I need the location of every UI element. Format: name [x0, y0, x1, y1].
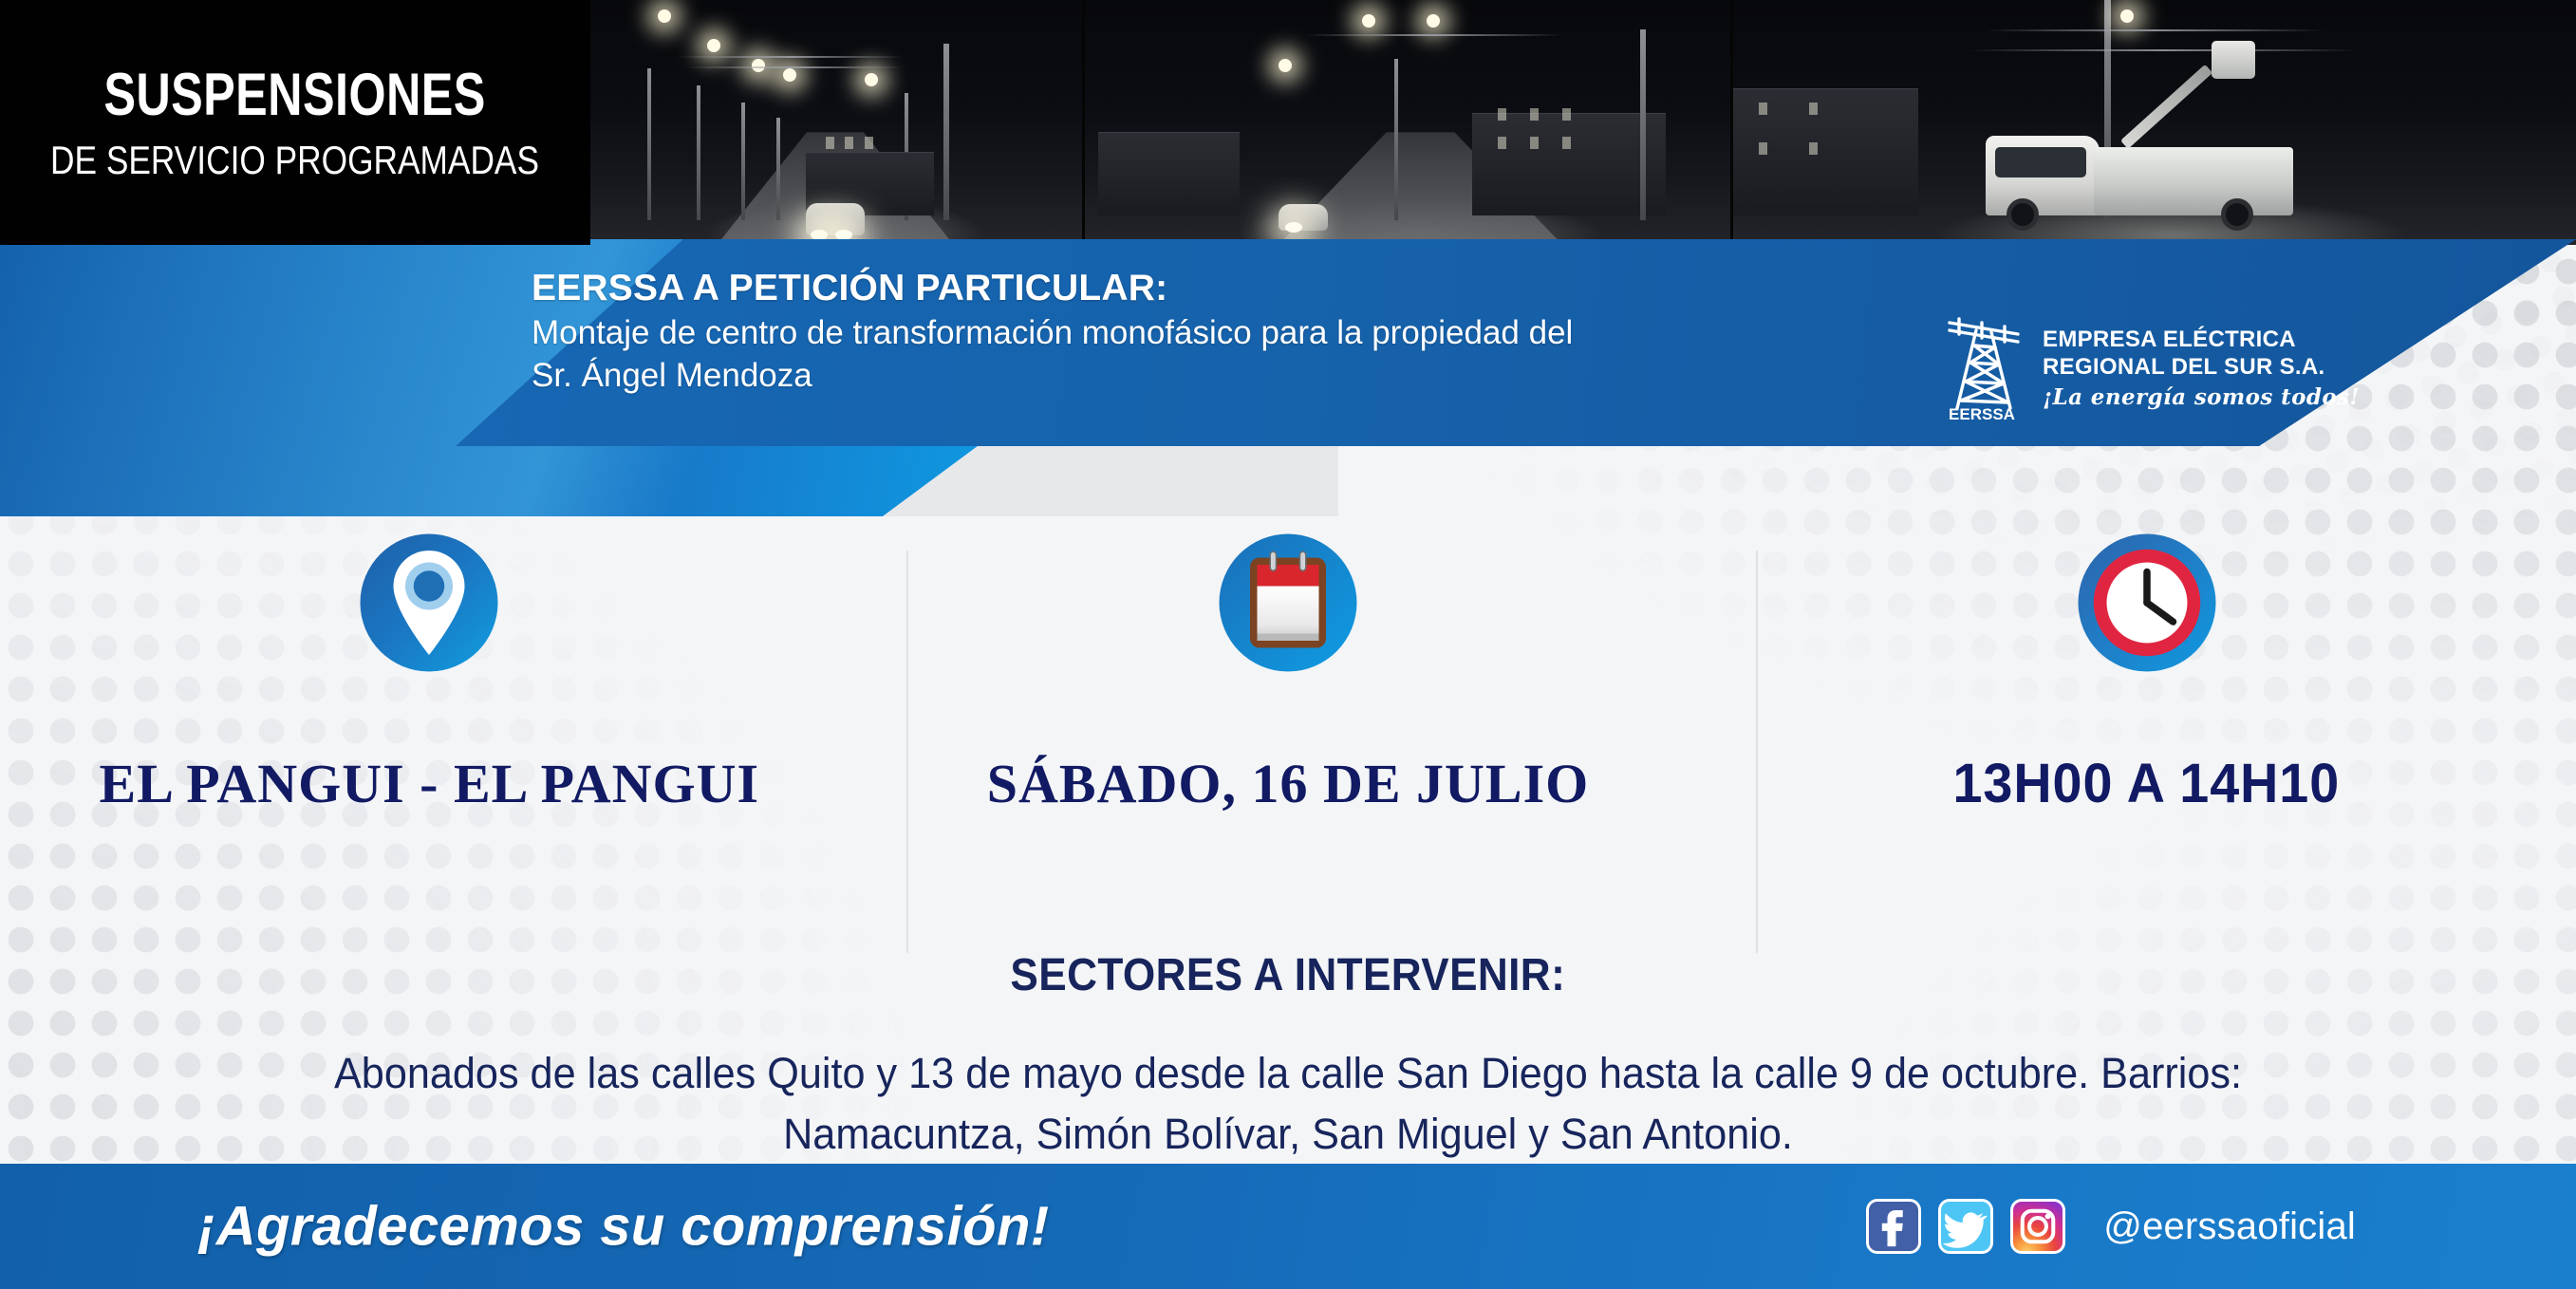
photo-night-street-car	[588, 0, 1082, 245]
social-handle: @eerssaoficial	[2103, 1205, 2356, 1248]
twitter-icon[interactable]	[1938, 1199, 1993, 1254]
logo-slogan: ¡La energía somos todos!	[2043, 384, 2360, 410]
poster-title-secondary: DE SERVICIO PROGRAMADAS	[51, 140, 540, 180]
eerssa-logo: EERSSA EMPRESA ELÉCTRICA REGIONAL DEL SU…	[1936, 313, 2360, 423]
footer-social-links: @eerssaoficial	[1866, 1199, 2356, 1254]
date-label: SÁBADO, 16 DE JULIO	[987, 756, 1590, 813]
info-column-location: EL PANGUI - EL PANGUI	[0, 532, 859, 930]
banner-text-block: EERSSA A PETICIÓN PARTICULAR: Montaje de…	[532, 266, 1573, 398]
location-label: EL PANGUI - EL PANGUI	[100, 756, 760, 813]
poster-footer: ¡Agradecemos su comprensión! @eerssaofic…	[0, 1164, 2576, 1289]
banner-description-line-1: Montaje de centro de transformación mono…	[532, 311, 1573, 355]
facebook-icon[interactable]	[1866, 1199, 1921, 1254]
info-column-time: 13H00 A 14H10	[1717, 532, 2576, 930]
utility-truck	[1986, 111, 2299, 231]
time-label: 13H00 A 14H10	[1953, 756, 2341, 813]
info-column-date: SÁBADO, 16 DE JULIO	[859, 532, 1718, 930]
header-photo-strip: SUSPENSIONES DE SERVICIO PROGRAMADAS	[0, 0, 2576, 245]
banner-description-line-2: Sr. Ángel Mendoza	[532, 354, 1573, 398]
banner-heading: EERSSA A PETICIÓN PARTICULAR:	[532, 266, 1573, 311]
sectors-heading: SECTORES A INTERVENIR:	[1011, 949, 1566, 1001]
logo-company-line-1: EMPRESA ELÉCTRICA	[2043, 327, 2360, 353]
footer-thanks-message: ¡Agradecemos su comprensión!	[197, 1195, 1050, 1259]
logo-company-line-2: REGIONAL DEL SUR S.A.	[2043, 354, 2360, 381]
info-columns: EL PANGUI - EL PANGUI	[0, 532, 2576, 930]
poster-title-box: SUSPENSIONES DE SERVICIO PROGRAMADAS	[0, 0, 590, 245]
poster-title-primary: SUSPENSIONES	[104, 65, 487, 125]
svg-text:EERSSA: EERSSA	[1949, 405, 2015, 423]
sectors-section: SECTORES A INTERVENIR: Abonados de las c…	[0, 949, 2576, 1165]
sectors-body: Abonados de las calles Quito y 13 de may…	[304, 1043, 2272, 1165]
suspension-notice-poster: SUSPENSIONES DE SERVICIO PROGRAMADAS EER…	[0, 0, 2576, 1289]
photo-night-town	[1085, 0, 1730, 245]
clock-icon	[2076, 532, 2218, 674]
transmission-tower-icon: EERSSA	[1936, 313, 2027, 423]
instagram-icon[interactable]	[2010, 1199, 2065, 1254]
location-pin-icon	[358, 532, 500, 674]
calendar-icon	[1217, 532, 1359, 674]
photo-bucket-truck	[1733, 0, 2576, 245]
